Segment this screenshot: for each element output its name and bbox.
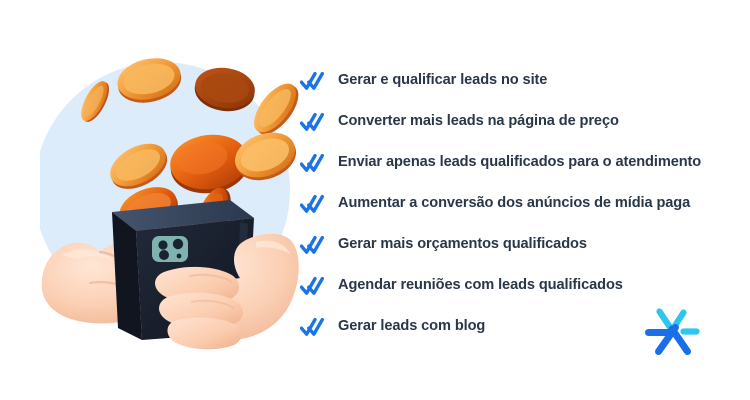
list-item: Gerar mais orçamentos qualificados	[300, 224, 740, 265]
list-item-label: Gerar e qualificar leads no site	[338, 73, 547, 88]
list-item: Gerar e qualificar leads no site	[300, 60, 740, 101]
list-item: Aumentar a conversão dos anúncios de míd…	[300, 183, 740, 224]
illustration-hands-holding-phone-with-coins	[40, 40, 300, 350]
list-item: Enviar apenas leads qualificados para o …	[300, 142, 740, 183]
graphic-canvas: Gerar e qualificar leads no site Convert…	[0, 0, 750, 400]
double-check-icon	[300, 235, 326, 255]
double-check-icon	[300, 194, 326, 214]
double-check-icon	[300, 112, 326, 132]
list-item-label: Gerar leads com blog	[338, 319, 485, 334]
list-item-label: Converter mais leads na página de preço	[338, 114, 619, 129]
phone-camera-module	[152, 236, 188, 262]
list-item-label: Agendar reuniões com leads qualificados	[338, 278, 623, 293]
double-check-icon	[300, 276, 326, 296]
brand-logo	[645, 303, 701, 359]
list-item-label: Aumentar a conversão dos anúncios de míd…	[338, 196, 690, 211]
list-item-label: Gerar mais orçamentos qualificados	[338, 237, 587, 252]
double-check-icon	[300, 317, 326, 337]
double-check-icon	[300, 153, 326, 173]
logo-stroke-upper-left	[660, 312, 670, 327]
double-check-icon	[300, 71, 326, 91]
list-item-label: Enviar apenas leads qualificados para o …	[338, 155, 701, 170]
list-item: Agendar reuniões com leads qualificados	[300, 265, 740, 306]
list-item: Converter mais leads na página de preço	[300, 101, 740, 142]
